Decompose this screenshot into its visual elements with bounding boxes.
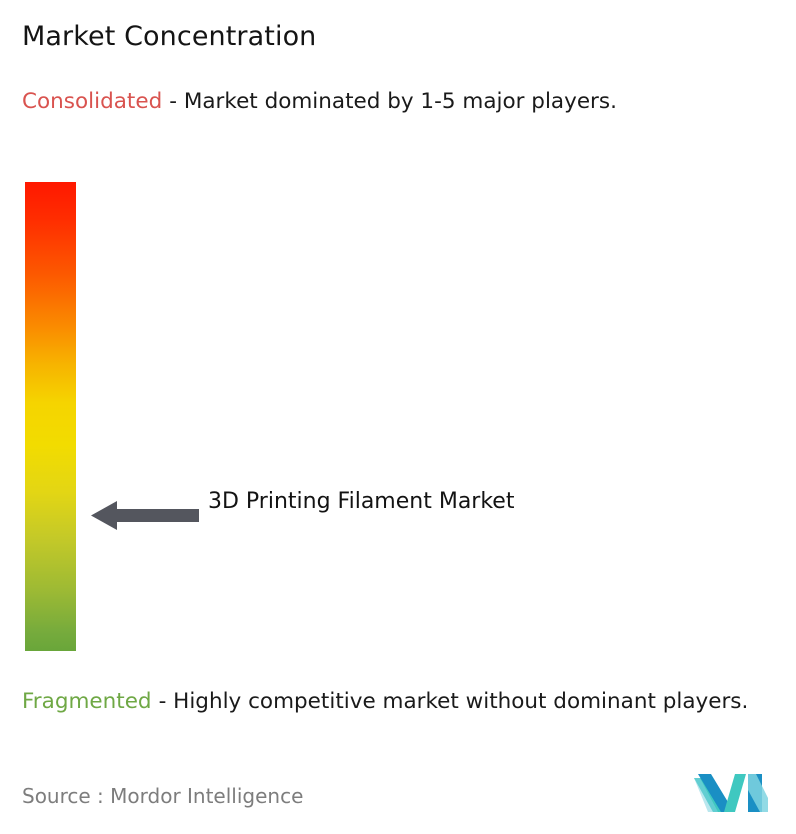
- legend-fragmented-keyword: Fragmented: [22, 689, 152, 714]
- legend-consolidated: Consolidated- Market dominated by 1-5 ma…: [22, 86, 767, 117]
- left-arrow-icon: [91, 498, 199, 533]
- legend-fragmented-description: - Highly competitive market without domi…: [159, 689, 749, 714]
- market-label: 3D Printing Filament Market: [208, 484, 568, 520]
- legend-consolidated-keyword: Consolidated: [22, 89, 162, 114]
- source-note: Source : Mordor Intelligence: [22, 782, 303, 810]
- mi-monogram-icon: [694, 770, 768, 816]
- mordor-intelligence-logo: [694, 770, 768, 816]
- legend-consolidated-description: - Market dominated by 1-5 major players.: [169, 89, 617, 114]
- legend-fragmented: Fragmented- Highly competitive market wi…: [22, 686, 784, 717]
- market-position-arrow: [91, 498, 199, 533]
- concentration-gradient-bar: [25, 182, 76, 651]
- page-title: Market Concentration: [22, 20, 316, 54]
